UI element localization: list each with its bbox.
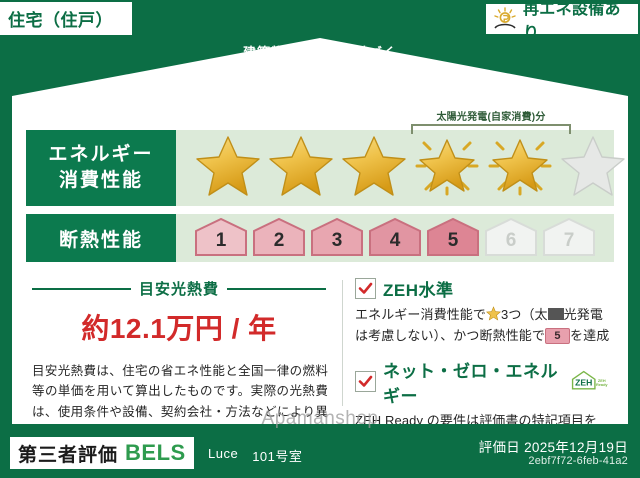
bels-badge-jp: 第三者評価 [18,440,118,467]
utility-cost-title: 目安光熱費 [26,274,332,299]
star-icon-solar [413,132,481,198]
zeh-level-heading: ZEH水準 [355,276,610,301]
insulation-grade-1: 1 [194,217,248,257]
sun-icon [492,7,518,31]
insulation-performance-row: 断熱性能 1 2 3 [26,214,614,262]
label-root: 住宅（住戸） 再エネ設備あり 建築物省エネ法に基づく 省エネ性能ラベル [0,0,640,478]
utility-cost-label: 目安光熱費 [139,278,219,299]
svg-text:ZEH: ZEH [576,377,593,387]
insulation-performance-label: 断熱性能 [26,214,176,262]
renewable-equipment-label: 再エネ設備あり [523,0,632,43]
inline-grade-badge: 5 [545,328,570,344]
dwelling-type-label: 住宅（住戸） [8,6,113,31]
utility-cost-panel: 目安光熱費 約12.1万円 / 年 目安光熱費は、住宅の省エネ性能と全国一律の燃… [26,274,332,416]
label-footer: 第三者評価 BELS Luce 101号室 評価日 2025年12月19日 2e… [0,428,640,478]
insulation-grade-5: 5 [426,217,480,257]
svg-text:Ready: Ready [596,383,608,387]
net-zero-title: ネット・ゼロ・エネルギー [383,357,563,407]
zeh-panel: ZEH水準 エネルギー消費性能で3つ（太光発電は考慮しない）、かつ断熱性能で5を… [353,274,614,416]
checkmark-icon [355,278,376,299]
insulation-grade-scale: 1 2 3 4 [194,217,596,257]
energy-rating-area: 太陽光発電(自家消費)分 [176,130,614,206]
label-card: エネルギー 消費性能 太陽光発電(自家消費)分 [12,38,628,424]
insulation-grade-area: 1 2 3 4 [176,214,614,262]
evaluation-date-label: 評価日 [479,440,520,455]
evaluation-date: 評価日 2025年12月19日 [479,436,628,456]
star-icon [194,132,262,198]
checkmark-icon [355,371,376,392]
star-icon [267,132,335,198]
bels-badge-en: BELS [125,440,186,466]
insulation-grade-3: 3 [310,217,364,257]
dwelling-type-chip: 住宅（住戸） [0,2,132,35]
solar-bracket [411,124,571,134]
svg-text:ZEH: ZEH [598,378,606,382]
insulation-grade-7: 7 [542,217,596,257]
room-number: 101号室 [252,446,302,465]
document-id: 2ebf7f72-6feb-41a2 [528,455,628,467]
energy-star-rating [194,132,627,198]
energy-performance-row: エネルギー 消費性能 太陽光発電(自家消費)分 [26,130,614,206]
star-icon-solar [486,132,554,198]
zeh-level-block: ZEH水準 エネルギー消費性能で3つ（太光発電は考慮しない）、かつ断熱性能で5を… [353,276,614,347]
rule-left [32,288,131,290]
utility-cost-value: 約12.1万円 / 年 [26,299,332,347]
label-lower-section: 目安光熱費 約12.1万円 / 年 目安光熱費は、住宅の省エネ性能と全国一律の燃… [26,274,614,416]
zeh-level-body: エネルギー消費性能で3つ（太光発電は考慮しない）、かつ断熱性能で5を達成 [355,301,610,347]
star-icon [340,132,408,198]
renewable-equipment-chip: 再エネ設備あり [486,4,638,34]
solar-self-consumption-note: 太陽光発電(自家消費)分 [403,108,579,134]
building-name: Luce [208,446,238,465]
insulation-grade-6: 6 [484,217,538,257]
panel-divider [342,280,343,406]
solar-note-caption: 太陽光発電(自家消費)分 [403,108,579,123]
energy-performance-label: エネルギー 消費性能 [26,130,176,206]
bels-badge: 第三者評価 BELS [10,437,194,469]
insulation-grade-2: 2 [252,217,306,257]
rule-right [227,288,326,290]
net-zero-heading: ネット・ゼロ・エネルギー ZEH ZEH Ready [355,357,610,407]
star-icon-empty [559,132,627,198]
zeh-ready-logo-icon: ZEH ZEH Ready [570,369,610,395]
zeh-level-title: ZEH水準 [383,276,454,301]
redacted-text [548,308,564,320]
evaluation-date-value: 2025年12月19日 [524,440,628,455]
inline-star-icon [486,306,501,321]
insulation-grade-4: 4 [368,217,422,257]
property-identity: Luce 101号室 [208,446,302,465]
